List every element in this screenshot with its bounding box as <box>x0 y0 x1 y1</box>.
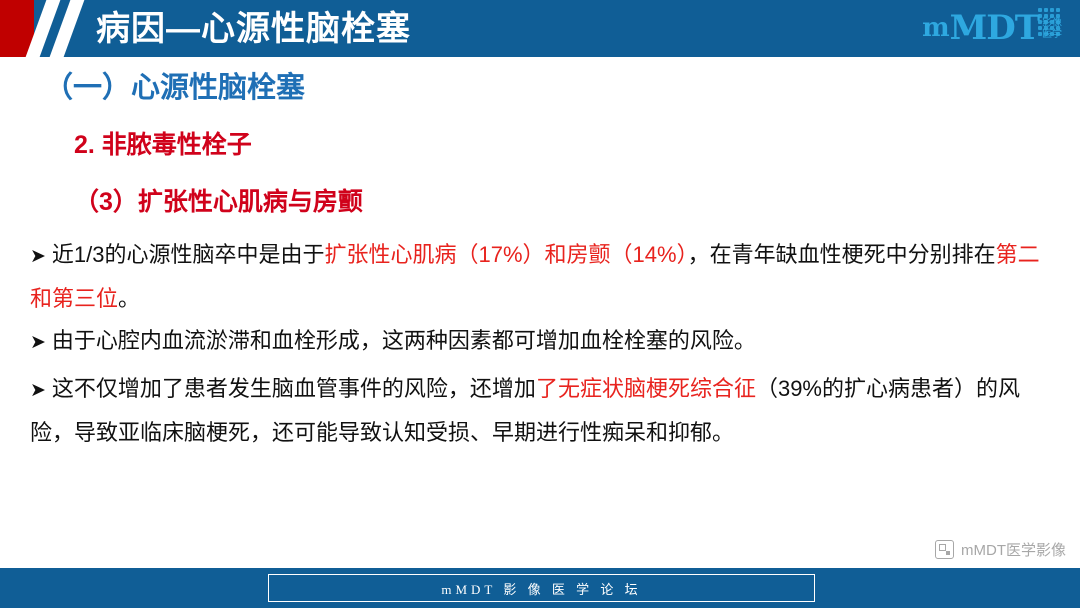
watermark-account: mMDT医学影像 <box>935 539 1066 560</box>
slide: 病因—心源性脑栓塞 m MDT 影像 医学 （一）心源性脑栓塞 2. 非脓毒性栓… <box>0 0 1080 608</box>
bullet-arrow-icon: ➤ <box>30 380 46 401</box>
bullet-paragraph-1: ➤近1/3的心源性脑卒中是由于扩张性心肌病（17%）和房颤（14%），在青年缺血… <box>30 234 1040 320</box>
slide-footer: mMDT 影 像 医 学 论 坛 <box>0 568 1080 608</box>
slide-header: 病因—心源性脑栓塞 m MDT 影像 医学 <box>0 0 1080 58</box>
bullet-paragraph-3: ➤这不仅增加了患者发生脑血管事件的风险，还增加了无症状脑梗死综合征（39%的扩心… <box>30 368 1040 454</box>
mmdt-logo: m MDT 影像 医学 <box>922 8 1062 48</box>
bullet-paragraph-2: ➤由于心腔内血流淤滞和血栓形成，这两种因素都可增加血栓栓塞的风险。 <box>30 320 1040 364</box>
qr-code-icon <box>935 540 954 559</box>
text-segment: 这不仅增加了患者发生脑血管事件的风险，还增加 <box>52 376 536 401</box>
page-title: 病因—心源性脑栓塞 <box>96 6 411 52</box>
watermark-account-label: mMDT医学影像 <box>961 539 1066 560</box>
logo-m-text: m <box>922 15 950 41</box>
text-segment: 。 <box>118 286 140 311</box>
bullet-arrow-icon: ➤ <box>30 246 46 267</box>
text-segment-highlight: 扩张性心肌病（17%）和房颤（14%） <box>325 242 688 267</box>
subsubsection-title: （3）扩张性心肌病与房颤 <box>74 182 363 218</box>
section-title: （一）心源性脑栓塞 <box>44 64 305 106</box>
text-segment: 由于心腔内血流淤滞和血栓形成，这两种因素都可增加血栓栓塞的风险。 <box>52 328 756 353</box>
text-segment-highlight: 了无症状脑梗死综合征 <box>536 376 756 401</box>
header-wedge-decor <box>30 0 100 57</box>
logo-mdt-text: MDT <box>950 11 1039 45</box>
subsection-title: 2. 非脓毒性栓子 <box>74 125 252 161</box>
text-segment: 近1/3的心源性脑卒中是由于 <box>52 242 325 267</box>
footer-label: mMDT 影 像 医 学 论 坛 <box>441 579 641 598</box>
text-segment: ，在青年缺血性梗死中分别排在 <box>688 242 996 267</box>
logo-dot-grid-icon <box>1038 8 1064 38</box>
footer-banner: mMDT 影 像 医 学 论 坛 <box>268 574 815 602</box>
bullet-arrow-icon: ➤ <box>30 332 46 353</box>
